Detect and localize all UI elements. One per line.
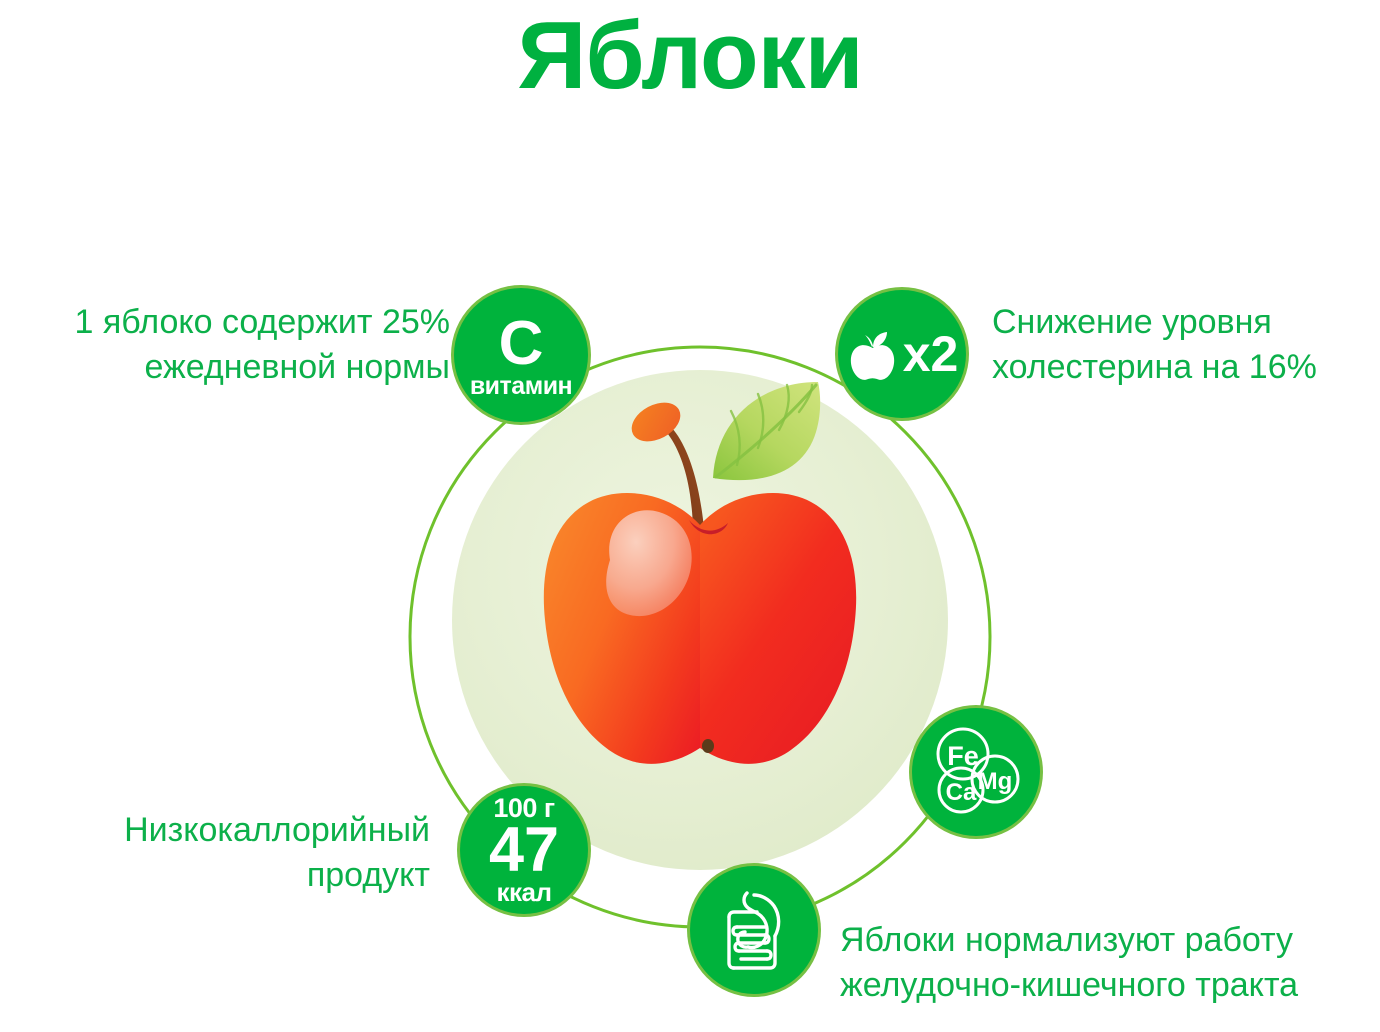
vitamin-sublabel: витамин	[470, 374, 572, 399]
caption-lowcalorie-line2: продукт	[30, 853, 430, 898]
apple-calyx	[702, 739, 714, 753]
stomach-intestines-icon	[713, 887, 795, 973]
caption-cholesterol: Снижение уровня холестерина на 16%	[992, 300, 1372, 390]
calorie-unit: ккал	[496, 879, 551, 905]
caption-digestion-line2: желудочно-кишечного тракта	[840, 963, 1380, 1008]
badge-vitamin-c[interactable]: C витамин	[454, 288, 588, 422]
svg-text:Fe: Fe	[947, 741, 979, 771]
caption-cholesterol-line1: Снижение уровня	[992, 300, 1372, 345]
badge-two-apples[interactable]: x2	[838, 290, 966, 418]
caption-digestion-line1: Яблоки нормализуют работу	[840, 918, 1380, 963]
infographic-canvas: Яблоки	[0, 0, 1380, 1032]
vitamin-letter: C	[499, 317, 544, 370]
minerals-icon: Fe Mg Ca	[927, 723, 1025, 821]
badge-digestion[interactable]	[690, 866, 818, 994]
caption-lowcalorie-line1: Низкокаллорийный	[30, 808, 430, 853]
badge-calories[interactable]: 100 г 47 ккал	[460, 786, 588, 914]
multiplier-label: x2	[903, 329, 959, 379]
svg-text:Mg: Mg	[978, 768, 1013, 795]
caption-vitamin-line2: ежедневной нормы	[10, 345, 450, 390]
svg-text:Ca: Ca	[946, 779, 977, 806]
caption-digestion: Яблоки нормализуют работу желудочно-кише…	[840, 918, 1380, 1008]
caption-vitamin: 1 яблоко содержит 25% ежедневной нормы	[10, 300, 450, 390]
caption-cholesterol-line2: холестерина на 16%	[992, 345, 1372, 390]
caption-vitamin-line1: 1 яблоко содержит 25%	[10, 300, 450, 345]
apple-icon	[846, 324, 902, 384]
caption-lowcalorie: Низкокаллорийный продукт	[30, 808, 430, 898]
badge-minerals[interactable]: Fe Mg Ca	[912, 708, 1040, 836]
calorie-value: 47	[489, 821, 559, 881]
